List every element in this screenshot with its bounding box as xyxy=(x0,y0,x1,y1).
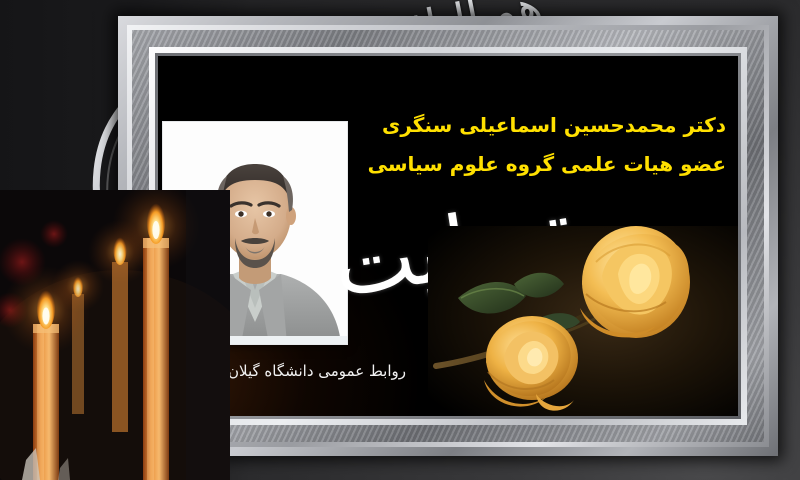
headline-position: عضو هیات علمی گروه علوم سیاسی xyxy=(296,145,726,184)
frame-inner-lip: تسلیت دکتر محمدحسین اسماعیلی سنگری عضو ه… xyxy=(155,53,741,419)
headline-name: دکتر محمدحسین اسماعیلی سنگری xyxy=(296,106,726,145)
frame-bevel-inner: تسلیت دکتر محمدحسین اسماعیلی سنگری عضو ه… xyxy=(149,47,747,425)
headline-block: دکتر محمدحسین اسماعیلی سنگری عضو هیات عل… xyxy=(296,106,726,184)
condolence-poster: هو الباقی xyxy=(0,0,800,480)
tribute-line: روحش شاد و یادش گرامی xyxy=(455,259,716,283)
poster-canvas: تسلیت دکتر محمدحسین اسماعیلی سنگری عضو ه… xyxy=(158,56,738,416)
yellow-roses-decoration xyxy=(428,226,738,416)
frame-bevel-textured: تسلیت دکتر محمدحسین اسماعیلی سنگری عضو ه… xyxy=(132,30,764,442)
frame-bevel-outer: تسلیت دکتر محمدحسین اسماعیلی سنگری عضو ه… xyxy=(127,25,769,447)
picture-frame: تسلیت دکتر محمدحسین اسماعیلی سنگری عضو ه… xyxy=(118,16,778,456)
signature-line: روابط عمومی دانشگاه گیلان xyxy=(167,362,467,380)
